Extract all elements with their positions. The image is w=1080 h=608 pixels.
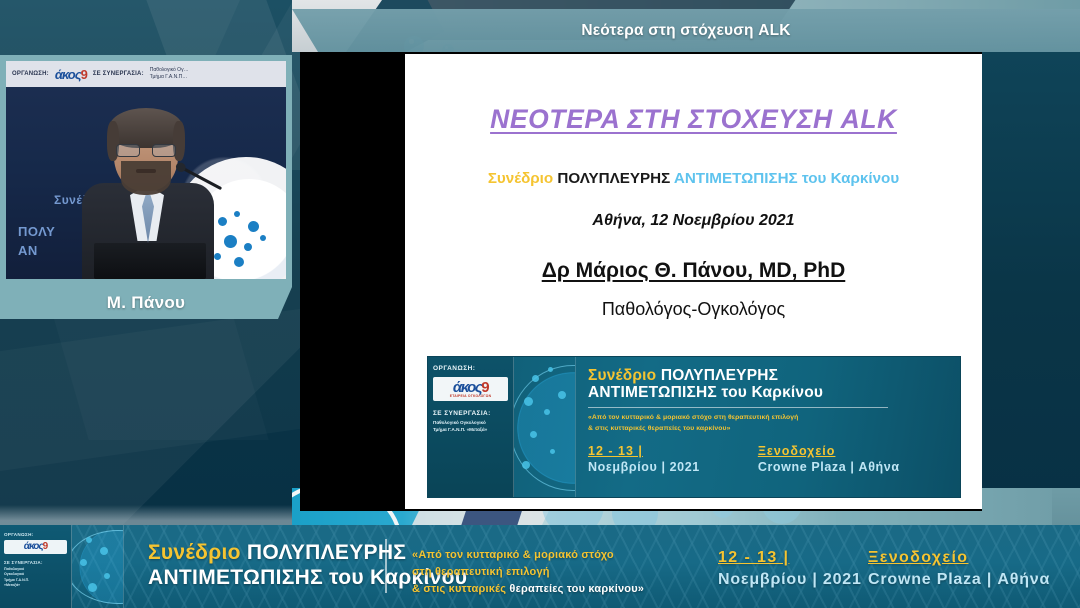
speaker-name: Μ. Πάνου bbox=[107, 293, 185, 313]
bottom-dates-value: Νοεμβρίου | 2021 bbox=[718, 569, 862, 591]
slide-date: Αθήνα, 12 Νοεμβρίου 2021 bbox=[405, 212, 982, 230]
slide-title: ΝΕΟΤΕΡΑ ΣΤΗ ΣΤΟΧΕΥΣΗ ALK bbox=[405, 104, 982, 135]
glasses-icon bbox=[116, 144, 176, 157]
bottom-banner-venue: Ξενοδοχείο Crowne Plaza | Αθήνα bbox=[868, 547, 1050, 590]
bottom-banner-quote: «Από τον κυτταρικό & μοριακό στόχο στη θ… bbox=[412, 547, 644, 598]
banner-logo-column: ΟΡΓΑΝΩΣΗ: άκος9 ΕΤΑΙΡΕΙΑ ΟΓΚΟΛΟΓΩΝ ΣΕ ΣΥ… bbox=[428, 357, 514, 497]
banner-divider bbox=[588, 407, 888, 408]
header-title: Νεότερα στη στόχευση ALK bbox=[292, 9, 1080, 52]
akos-logo-subtext: ΕΤΑΙΡΕΙΑ ΟΓΚΟΛΟΓΩΝ bbox=[435, 395, 506, 398]
video-banner-org-label: ΟΡΓΑΝΩΣΗ: bbox=[12, 71, 49, 77]
banner-text-block: Συνέδριο ΠΟΛΥΠΛΕΥΡΗΣ ΑΝΤΙΜΕΤΩΠΙΣΗΣ του Κ… bbox=[588, 367, 952, 476]
presentation-stage: Νεότερα στη στόχευση ALK ΠΟΛΥ ΑΝ Σ bbox=[0, 0, 1080, 608]
speaker-video-feed[interactable]: ΠΟΛΥ ΑΝ Συνέδριο ΟΡΓΑΝΩΣ bbox=[6, 61, 286, 279]
bottom-banner-divider bbox=[385, 539, 387, 593]
speaker-hair bbox=[109, 108, 183, 148]
subtitle-part-2: ΠΟΛΥΠΛΕΥΡΗΣ bbox=[557, 170, 673, 187]
akos-logo-box: άκος9 bbox=[4, 540, 67, 554]
bottom-banner-dates: 12 - 13 | Νοεμβρίου | 2021 bbox=[718, 547, 862, 590]
banner-title-line1: Συνέδριο ΠΟΛΥΠΛΕΥΡΗΣ bbox=[588, 367, 952, 384]
video-banner-coop-lines: Παθολογικό Ογ…Τμήμα Γ.Α.Ν.Π… bbox=[150, 67, 189, 81]
slide-presenter-role: Παθολόγος-Ογκολόγος bbox=[405, 299, 982, 320]
banner-title-line2: ΑΝΤΙΜΕΤΩΠΙΣΗΣ του Καρκίνου bbox=[588, 384, 952, 401]
speaker-figure bbox=[84, 113, 212, 279]
banner-venue: Ξενοδοχείο Crowne Plaza | Αθήνα bbox=[758, 444, 900, 475]
bottom-conference-banner: ΟΡΓΑΝΩΣΗ: άκος9 ΣΕ ΣΥΝΕΡΓΑΣΙΑ: Παθολογικ… bbox=[0, 525, 1080, 608]
slide-conference-banner: ΟΡΓΑΝΩΣΗ: άκος9 ΕΤΑΙΡΕΙΑ ΟΓΚΟΛΟΓΩΝ ΣΕ ΣΥ… bbox=[427, 356, 961, 498]
banner-dates: 12 - 13 | Νοεμβρίου | 2021 bbox=[588, 444, 700, 475]
speaker-nameplate: Μ. Πάνου bbox=[0, 287, 292, 319]
speaker-mouth bbox=[136, 169, 156, 173]
slide-subtitle: Συνέδριο ΠΟΛΥΠΛΕΥΡΗΣ ΑΝΤΙΜΕΤΩΠΙΣΗΣ του Κ… bbox=[405, 170, 982, 187]
akos-logo-box: άκος9 ΕΤΑΙΡΕΙΑ ΟΓΚΟΛΟΓΩΝ bbox=[433, 377, 508, 401]
speaker-video-tile[interactable]: ΠΟΛΥ ΑΝ Συνέδριο ΟΡΓΑΝΩΣ bbox=[0, 55, 292, 287]
video-top-banner: ΟΡΓΑΝΩΣΗ: άκος9 ΣΕ ΣΥΝΕΡΓΑΣΙΑ: Παθολογικ… bbox=[6, 61, 286, 87]
laptop-icon bbox=[94, 243, 206, 279]
bottom-coop-label: ΣΕ ΣΥΝΕΡΓΑΣΙΑ: bbox=[4, 560, 67, 565]
video-backdrop-dots bbox=[208, 209, 278, 273]
speaker-beard bbox=[121, 161, 171, 195]
bottom-org-label: ΟΡΓΑΝΩΣΗ: bbox=[4, 532, 67, 537]
panel-fade-strip bbox=[0, 505, 300, 527]
banner-coop-label: ΣΕ ΣΥΝΕΡΓΑΣΙΑ: bbox=[433, 410, 508, 417]
cell-circle-icon bbox=[72, 530, 124, 604]
cell-circle-icon bbox=[514, 365, 576, 491]
bottom-venue-key: Ξενοδοχείο bbox=[868, 547, 1050, 569]
banner-coop-lines: Παθολογικό Ογκολογικό Τμήμα Γ.Α.Ν.Π. «Με… bbox=[433, 420, 508, 434]
banner-venue-key: Ξενοδοχείο bbox=[758, 444, 900, 460]
slide-presenter: Δρ Μάριος Θ. Πάνου, MD, PhD bbox=[405, 259, 982, 283]
banner-quote: «Από τον κυτταρικό & μοριακό στόχο στη θ… bbox=[588, 413, 952, 435]
banner-venue-value: Crowne Plaza | Αθήνα bbox=[758, 460, 900, 476]
video-banner-coop-label: ΣΕ ΣΥΝΕΡΓΑΣΙΑ: bbox=[93, 71, 144, 77]
akos-logo: άκος9 ΕΤΑΙΡΕΙΑ ΟΓΚΟΛΟΓΩΝ bbox=[435, 380, 506, 398]
akos-logo: άκος9 bbox=[55, 67, 87, 82]
banner-dates-key: 12 - 13 | bbox=[588, 444, 700, 460]
akos-logo: άκος9 bbox=[5, 542, 66, 552]
subtitle-part-4: του Καρκίνου bbox=[802, 170, 899, 187]
bottom-banner-logo-column: ΟΡΓΑΝΩΣΗ: άκος9 ΣΕ ΣΥΝΕΡΓΑΣΙΑ: Παθολογικ… bbox=[0, 525, 72, 608]
bottom-dates-key: 12 - 13 | bbox=[718, 547, 862, 569]
subtitle-part-3: ΑΝΤΙΜΕΤΩΠΙΣΗΣ bbox=[674, 170, 802, 187]
slide-content[interactable]: ΝΕΟΤΕΡΑ ΣΤΗ ΣΤΟΧΕΥΣΗ ALK Συνέδριο ΠΟΛΥΠΛ… bbox=[405, 54, 982, 509]
banner-details: 12 - 13 | Νοεμβρίου | 2021 Ξενοδοχείο Cr… bbox=[588, 444, 952, 475]
banner-dna-graphic bbox=[514, 357, 576, 497]
bottom-banner-dna-graphic bbox=[72, 525, 124, 608]
banner-dates-value: Νοεμβρίου | 2021 bbox=[588, 460, 700, 476]
bottom-venue-value: Crowne Plaza | Αθήνα bbox=[868, 569, 1050, 591]
banner-org-label: ΟΡΓΑΝΩΣΗ: bbox=[433, 365, 508, 372]
bottom-coop-lines: Παθολογικό Ογκολογικό Τμήμα Γ.Α.Ν.Π. «Με… bbox=[4, 567, 67, 589]
video-backdrop-text: ΠΟΛΥ ΑΝ bbox=[18, 223, 55, 261]
subtitle-part-1: Συνέδριο bbox=[488, 170, 558, 187]
